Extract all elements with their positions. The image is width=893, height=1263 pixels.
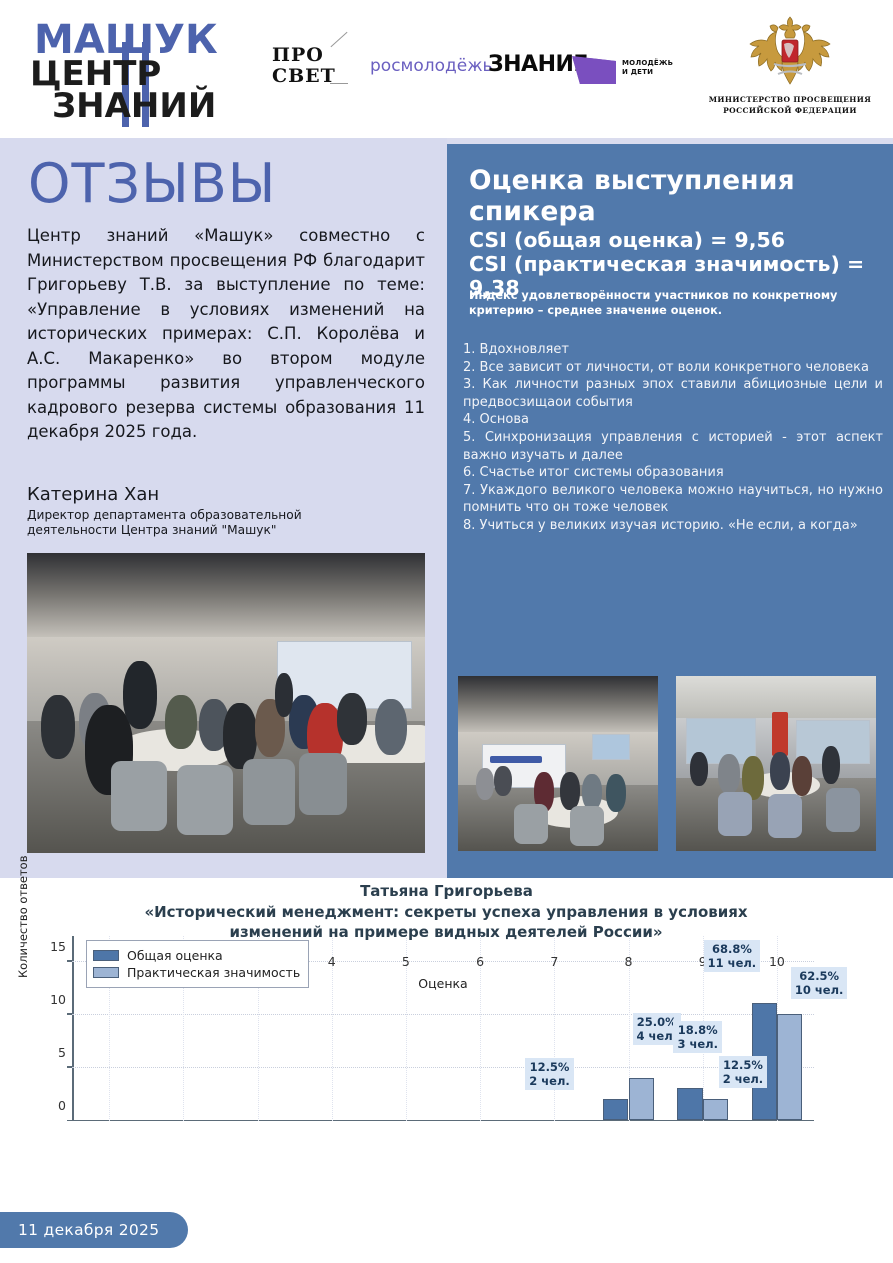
photo-secondary-hall (458, 676, 658, 851)
rosmolodezh-logo: росмолодёжь (370, 56, 493, 76)
photo-person (476, 768, 494, 800)
speaker-evaluation-title: Оценка выступления спикера (469, 165, 879, 227)
molodezh-i-deti-logo: МОЛОДЁЖЬИ ДЕТИ (572, 48, 668, 88)
data-label-pct: 62.5% (799, 969, 839, 983)
legend-item-overall: Общая оценка (93, 948, 300, 963)
nacproject-triangle-icon (572, 56, 616, 84)
list-item: 4. Основа (463, 411, 883, 429)
photo-person (606, 774, 626, 812)
prosvet-line1: ПРО (272, 44, 324, 66)
csi-overall-value: CSI (общая оценка) = 9,56 (469, 228, 785, 252)
bar-10-series1 (777, 1014, 802, 1120)
photo-secondary-groupwork (676, 676, 876, 851)
list-item: 7. Укаждого великого человека можно науч… (463, 482, 883, 517)
y-tick-label: 15 (50, 939, 66, 954)
photo-chair (826, 788, 860, 832)
bar-8-series0 (603, 1099, 628, 1120)
legend-label: Практическая значимость (127, 965, 300, 980)
photo-ceiling (27, 553, 425, 643)
photo-person (123, 661, 157, 729)
photo-chair (299, 753, 347, 815)
bar-9-series1 (703, 1099, 728, 1120)
x-tick-label: 7 (550, 954, 558, 969)
data-label-count: 10 чел. (795, 983, 844, 997)
data-label-pct: 68.8% (712, 942, 752, 956)
prosvet-slash (330, 32, 347, 47)
date-badge: 11 декабря 2025 (0, 1212, 188, 1248)
list-item: 1. Вдохновляет (463, 341, 883, 359)
date-text: 11 декабря 2025 (18, 1221, 159, 1239)
poster-page: МАШУК ЦЕНТР ЗНАНИЙ ПРО СВЕТ росмолодёжь … (0, 0, 893, 1263)
photo-tv-screen (592, 734, 630, 760)
y-tick-mark (67, 1120, 72, 1122)
ministry-line2: РОССИЙСКОЙ ФЕДЕРАЦИИ (723, 106, 857, 115)
chart-plot-area: Количество ответов Оценка 051015 1234567… (72, 946, 814, 1121)
page-title: ОТЗЫВЫ (28, 152, 276, 215)
data-label-9-series0: 18.8%3 чел. (673, 1021, 722, 1053)
data-label-count: 2 чел. (529, 1074, 570, 1088)
mashuk-logo-line3: ЗНАНИЙ (52, 89, 216, 123)
photo-person (165, 695, 197, 749)
bar-9-series0 (677, 1088, 702, 1120)
y-tick-label: 10 (50, 992, 66, 1007)
photo-chair (177, 765, 233, 835)
photo-chair (570, 806, 604, 846)
data-label-pct: 18.8% (678, 1023, 718, 1037)
mashuk-logo: МАШУК ЦЕНТР ЗНАНИЙ (30, 20, 220, 132)
y-tick-mark (67, 1013, 72, 1015)
data-label-pct: 25.0% (637, 1015, 677, 1029)
photo-main-roundtable (27, 553, 425, 853)
chart-legend: Общая оценка Практическая значимость (86, 940, 309, 988)
data-label-9-series1: 12.5%2 чел. (719, 1056, 768, 1088)
feedback-list: 1. Вдохновляет 2. Все зависит от личност… (463, 341, 883, 535)
photo-person (337, 693, 367, 745)
legend-item-practical: Практическая значимость (93, 965, 300, 980)
data-label-count: 11 чел. (708, 956, 757, 970)
x-tick-label: 8 (625, 954, 633, 969)
x-tick-label: 10 (769, 954, 785, 969)
y-tick-mark (67, 960, 72, 962)
russian-eagle-crest-icon (740, 12, 840, 88)
data-label-count: 3 чел. (677, 1037, 718, 1051)
partner-logo-strip: ПРО СВЕТ росмолодёжь ЗНАНИЕ МОЛОДЁЖЬИ ДЕ… (272, 42, 662, 98)
data-label-10-series1: 62.5%10 чел. (791, 967, 848, 999)
list-item: 8. Учиться у великих изучая историю. «Не… (463, 517, 883, 535)
y-axis (72, 936, 74, 1121)
x-tick-label: 6 (476, 954, 484, 969)
csi-definition-note: Индекс удовлетворённости участников по к… (469, 289, 869, 318)
list-item: 3. Как личности разных эпох ставили абиц… (463, 376, 883, 411)
photo-person (822, 746, 840, 784)
ministry-logo-block: МИНИСТЕРСТВО ПРОСВЕЩЕНИЯ РОССИЙСКОЙ ФЕДЕ… (700, 12, 880, 130)
photo-chair (111, 761, 167, 831)
header-bar: МАШУК ЦЕНТР ЗНАНИЙ ПРО СВЕТ росмолодёжь … (0, 0, 893, 138)
photo-person (792, 756, 812, 796)
photo-ceiling (458, 676, 658, 736)
data-label-count: 4 чел. (637, 1029, 678, 1043)
photo-person (582, 774, 602, 810)
photo-chair (718, 792, 752, 836)
author-name: Катерина Хан (27, 484, 159, 505)
y-tick-label: 5 (58, 1045, 66, 1060)
photo-person-speaker (275, 673, 293, 717)
photo-chair (768, 794, 802, 838)
main-content: ОТЗЫВЫ Центр знаний «Машук» совместно с … (0, 138, 893, 878)
photo-person (770, 752, 790, 790)
left-column: ОТЗЫВЫ Центр знаний «Машук» совместно с … (0, 138, 447, 878)
prosvet-line2: СВЕТ (272, 65, 336, 87)
photo-person (690, 752, 708, 786)
list-item: 6. Счастье итог системы образования (463, 464, 883, 482)
photo-person (560, 772, 580, 810)
prosvet-logo: ПРО СВЕТ (272, 45, 330, 89)
list-item: 5. Синхронизация управления с историей -… (463, 429, 883, 464)
photo-person (718, 754, 740, 794)
prosvet-dash (330, 83, 348, 84)
y-tick-label: 0 (58, 1098, 66, 1113)
ministry-line1: МИНИСТЕРСТВО ПРОСВЕЩЕНИЯ (709, 95, 872, 104)
photo-person (375, 699, 407, 755)
y-tick-mark (67, 1066, 72, 1068)
data-label-10-series0: 68.8%11 чел. (704, 940, 761, 972)
molodezh-i-deti-label: МОЛОДЁЖЬИ ДЕТИ (622, 59, 673, 77)
chart-section: Татьяна Григорьева «Исторический менеджм… (0, 878, 893, 1208)
photo-banner-text (490, 756, 542, 763)
photo-person (41, 695, 75, 759)
author-role: Директор департамента образовательной де… (27, 508, 387, 538)
legend-swatch-icon (93, 950, 119, 961)
data-label-count: 2 чел. (723, 1072, 764, 1086)
x-tick-label: 4 (328, 954, 336, 969)
x-tick-label: 5 (402, 954, 410, 969)
photo-person (494, 766, 512, 796)
chart-subtitle: «Исторический менеджмент: секреты успеха… (96, 902, 796, 942)
photo-chair (243, 759, 295, 825)
data-label-8-series0: 12.5%2 чел. (525, 1058, 574, 1090)
photo-red-column (772, 712, 788, 756)
data-label-pct: 12.5% (723, 1058, 763, 1072)
photo-chair (514, 804, 548, 844)
data-label-pct: 12.5% (530, 1060, 570, 1074)
legend-swatch-icon (93, 967, 119, 978)
chart-title: Татьяна Григорьева (0, 882, 893, 900)
bar-8-series1 (629, 1078, 654, 1120)
legend-label: Общая оценка (127, 948, 223, 963)
list-item: 2. Все зависит от личности, от воли конк… (463, 359, 883, 377)
y-axis-label: Количество ответов (16, 856, 30, 979)
ministry-caption: МИНИСТЕРСТВО ПРОСВЕЩЕНИЯ РОССИЙСКОЙ ФЕДЕ… (700, 94, 880, 116)
thanks-paragraph: Центр знаний «Машук» совместно с Министе… (27, 224, 425, 445)
